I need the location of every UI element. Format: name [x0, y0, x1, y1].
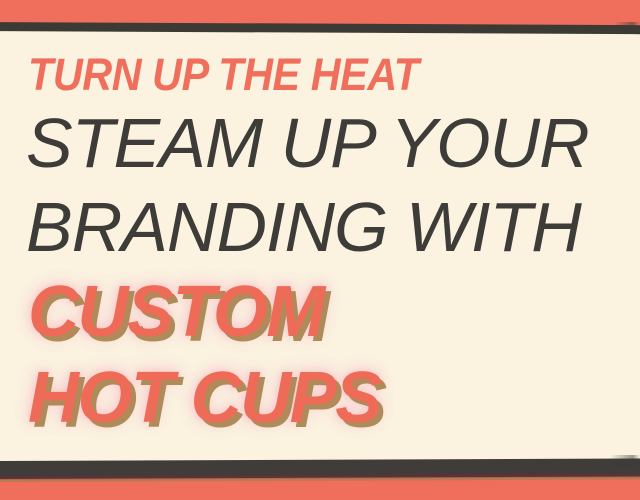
emphasis-line-1: CUSTOM	[28, 276, 324, 348]
bottom-rule-edge-dither	[610, 455, 640, 467]
eyebrow-text: TURN UP THE HEAT	[28, 52, 419, 97]
emphasis-line-2: HOT CUPS	[28, 362, 381, 434]
headline-line-2: BRANDING WITH	[26, 192, 581, 262]
headline-line-1: STEAM UP YOUR	[26, 108, 589, 178]
poster-canvas: TURN UP THE HEAT STEAM UP YOUR BRANDING …	[0, 0, 640, 500]
top-rule-edge-dither	[614, 22, 640, 34]
